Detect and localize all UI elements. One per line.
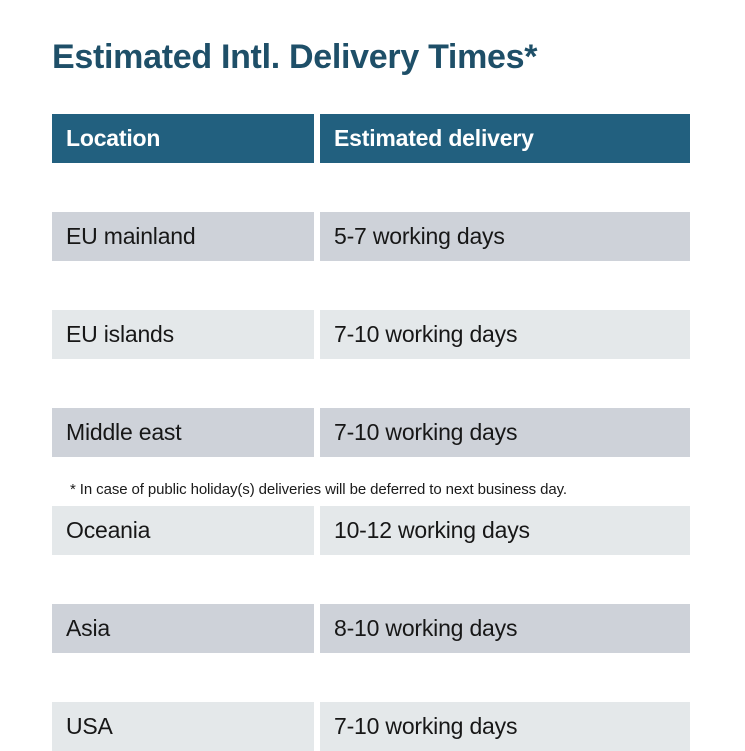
- delivery-times-page: Estimated Intl. Delivery Times* Location…: [0, 0, 745, 536]
- cell-estimated-delivery: 7-10 working days: [320, 408, 690, 457]
- row-gap: [52, 163, 690, 212]
- cell-location: Middle east: [52, 408, 314, 457]
- row-gap-cell: [320, 261, 690, 310]
- estimated-delivery-table: Location Estimated delivery EU mainland …: [52, 114, 690, 751]
- cell-location: Oceania: [52, 506, 314, 555]
- cell-estimated-delivery: 8-10 working days: [320, 604, 690, 653]
- column-header-location: Location: [52, 114, 314, 163]
- table-header-row: Location Estimated delivery: [52, 114, 690, 163]
- row-gap-cell: [320, 359, 690, 408]
- row-gap-cell: [52, 555, 314, 604]
- row-gap-cell: [52, 359, 314, 408]
- row-gap-cell: [52, 261, 314, 310]
- row-gap-cell: [320, 653, 690, 702]
- cell-estimated-delivery: 5-7 working days: [320, 212, 690, 261]
- row-gap: [52, 653, 690, 702]
- table-row: Oceania 10-12 working days: [52, 506, 690, 555]
- row-gap: [52, 359, 690, 408]
- row-gap: [52, 555, 690, 604]
- table-row: EU mainland 5-7 working days: [52, 212, 690, 261]
- cell-estimated-delivery: 7-10 working days: [320, 702, 690, 751]
- page-title: Estimated Intl. Delivery Times*: [52, 36, 537, 78]
- table-row: Asia 8-10 working days: [52, 604, 690, 653]
- row-gap: [52, 261, 690, 310]
- column-header-estimated-delivery: Estimated delivery: [320, 114, 690, 163]
- row-gap-cell: [320, 555, 690, 604]
- row-gap-cell: [320, 163, 690, 212]
- table-header: Location Estimated delivery: [52, 114, 690, 163]
- footnote-text: * In case of public holiday(s) deliverie…: [70, 481, 567, 498]
- table-row: Middle east 7-10 working days: [52, 408, 690, 457]
- table-row: USA 7-10 working days: [52, 702, 690, 751]
- cell-estimated-delivery: 10-12 working days: [320, 506, 690, 555]
- cell-location: USA: [52, 702, 314, 751]
- cell-estimated-delivery: 7-10 working days: [320, 310, 690, 359]
- row-gap-cell: [52, 653, 314, 702]
- table-body: EU mainland 5-7 working days EU islands …: [52, 163, 690, 751]
- cell-location: EU islands: [52, 310, 314, 359]
- table-row: EU islands 7-10 working days: [52, 310, 690, 359]
- row-gap-cell: [52, 163, 314, 212]
- cell-location: EU mainland: [52, 212, 314, 261]
- cell-location: Asia: [52, 604, 314, 653]
